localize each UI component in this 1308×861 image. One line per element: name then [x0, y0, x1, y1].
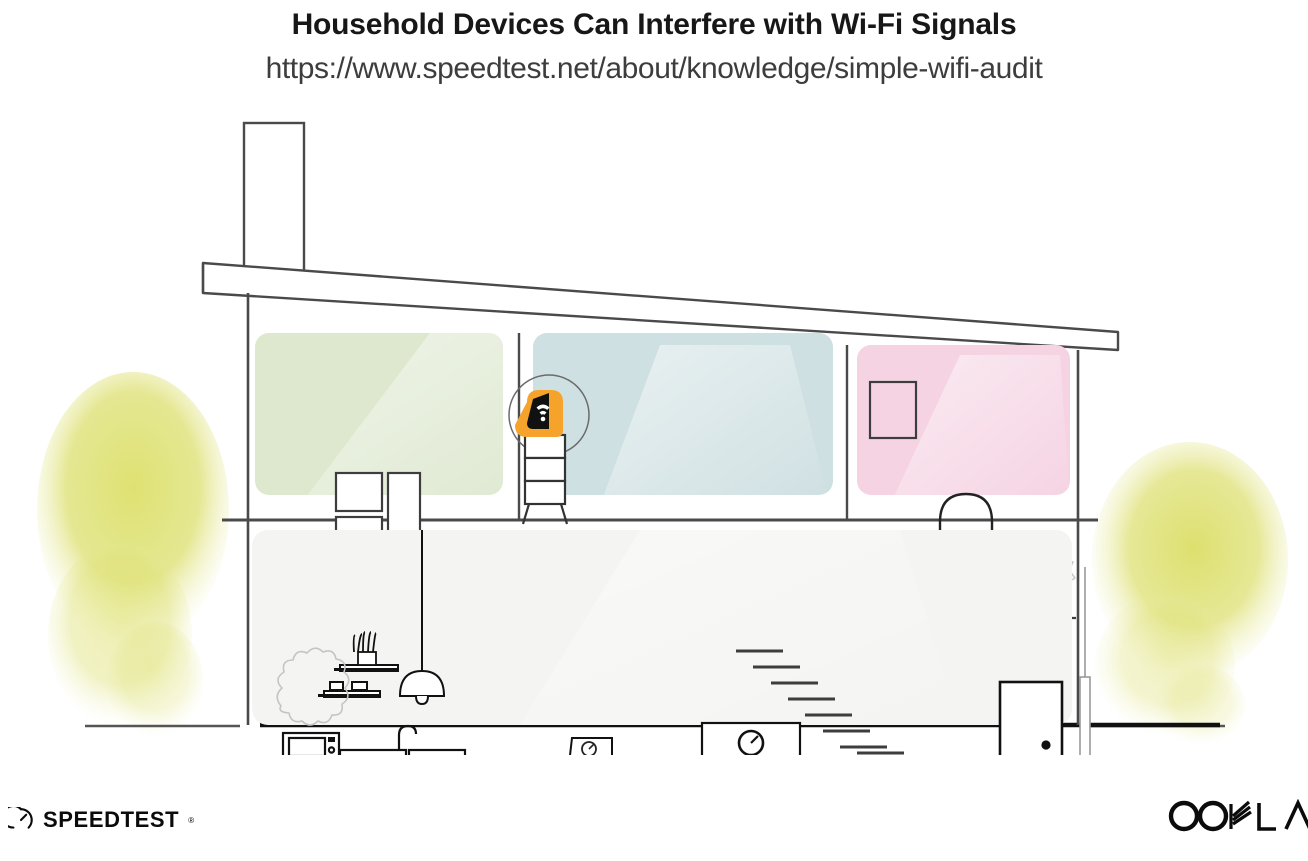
wifi-router — [515, 390, 563, 437]
router-shelf-unit — [523, 435, 567, 524]
foliage-right — [1092, 442, 1288, 745]
chimney — [244, 123, 304, 273]
speedtest-gauge-logo-icon — [8, 807, 34, 833]
front-door[interactable] — [1000, 682, 1062, 755]
wall-frame-pink — [870, 382, 916, 438]
microwave — [283, 733, 339, 755]
door-knob[interactable] — [1041, 740, 1050, 749]
laptop: SPEEDTEST — [566, 738, 616, 755]
infographic-canvas: Household Devices Can Interfere with Wi-… — [0, 0, 1308, 861]
speedtest-logo: SPEEDTEST ® — [8, 807, 194, 833]
page-title: Household Devices Can Interfere with Wi-… — [0, 8, 1308, 42]
source-url: https://www.speedtest.net/about/knowledg… — [0, 52, 1308, 86]
side-window-panel — [1080, 567, 1090, 755]
speedtest-trademark: ® — [188, 816, 194, 825]
foliage-left — [37, 372, 229, 738]
television: SPEEDTEST — [702, 723, 800, 755]
house-cutaway-illustration: SPEEDTEST — [0, 105, 1308, 755]
kitchen-faucet — [399, 726, 416, 751]
room-lower-living: SPEEDTEST — [252, 530, 1072, 755]
ookla-wordmark-icon: ® — [1164, 799, 1308, 833]
ookla-logo: ® — [1164, 799, 1308, 833]
speedtest-wordmark: SPEEDTEST — [43, 807, 179, 833]
